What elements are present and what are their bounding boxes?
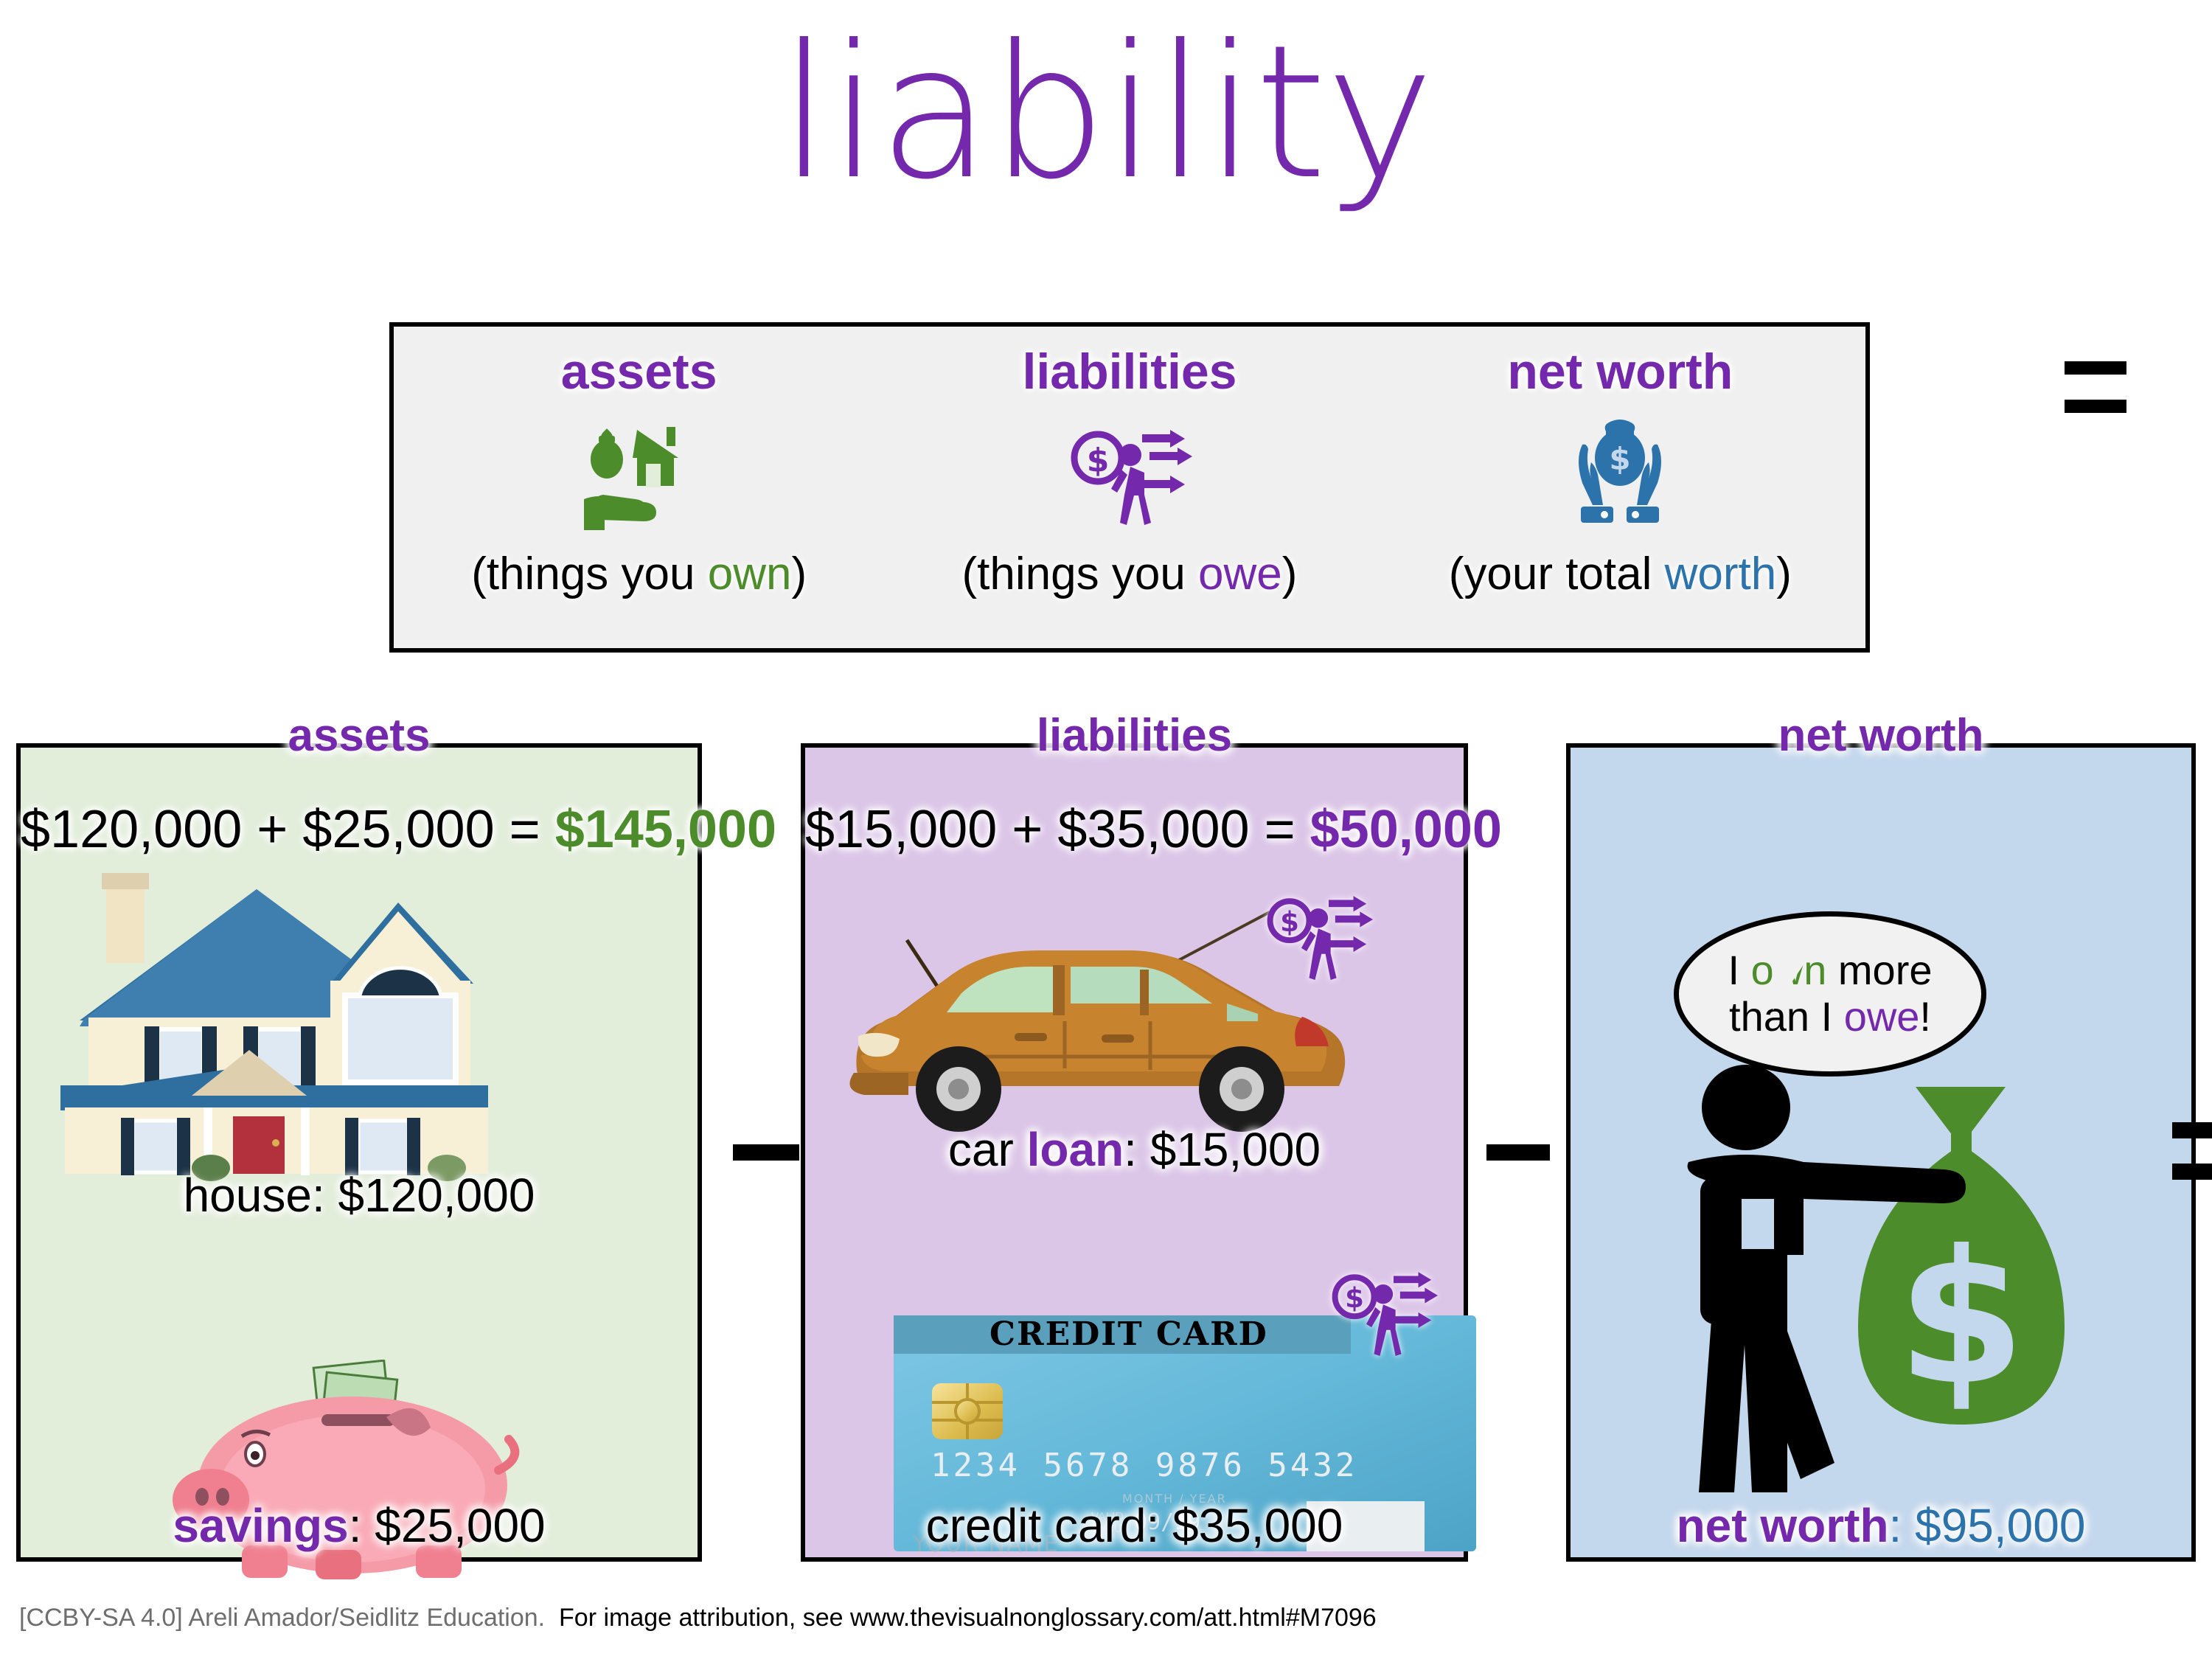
liabilities-item-key-loan: loan xyxy=(1027,1123,1124,1176)
person-money-outflow-icon: $ xyxy=(1312,1256,1453,1367)
page-title: liability xyxy=(0,21,2212,205)
assets-item-value-house: : $120,000 xyxy=(312,1169,535,1222)
definition-cell-net-worth: net worth $ xyxy=(1375,327,1865,648)
assets-equation: $120,000 + $25,000 = $145,000 xyxy=(21,799,698,860)
speech-line2-suffix: ! xyxy=(1919,993,1931,1040)
definition-sub-highlight: worth xyxy=(1665,549,1777,599)
liabilities-equation-total: $50,000 xyxy=(1310,800,1502,859)
speech-line1-suffix: more xyxy=(1826,947,1932,993)
definition-sub-suffix: ) xyxy=(1776,549,1792,599)
speech-bubble-line-1: I own more xyxy=(1728,947,1932,994)
footer-attribution-text: For image attribution, see www.thevisual… xyxy=(559,1604,1377,1632)
equals-sign-result xyxy=(2172,1122,2212,1181)
liabilities-item-value-credit-card: : $35,000 xyxy=(1146,1499,1343,1552)
minus-sign-liabilities-networth xyxy=(1486,1144,1550,1161)
speech-bubble: I own more than I owe! xyxy=(1674,911,1986,1077)
footer-license: [CCBY-SA 4.0] Areli Amador/Seidlitz Educ… xyxy=(19,1604,545,1632)
liabilities-item-key-credit-card: credit card xyxy=(926,1499,1147,1552)
liabilities-item-label-credit-card: credit card: $35,000 xyxy=(805,1498,1464,1553)
definition-sub-prefix: (things you xyxy=(962,549,1199,599)
person-with-money-bag-illustration: $ xyxy=(1659,1065,2160,1514)
person-money-outflow-icon: $ xyxy=(1060,405,1200,545)
speech-line2-owe: owe xyxy=(1844,993,1920,1040)
liabilities-item-label-car-loan: car loan: $15,000 xyxy=(805,1122,1464,1177)
liabilities-equation-operands: $15,000 + $35,000 = xyxy=(805,800,1310,859)
assets-panel-label: assets xyxy=(21,709,698,762)
liabilities-equation: $15,000 + $35,000 = $50,000 xyxy=(805,799,1464,860)
equals-sign-header xyxy=(2065,361,2126,416)
assets-item-key-house: house xyxy=(184,1169,312,1222)
liabilities-panel-label: liabilities xyxy=(805,709,1464,762)
definition-sub-highlight: own xyxy=(708,549,792,599)
hand-holding-house-money-icon xyxy=(569,405,709,545)
definition-sub-liabilities: (things you owe) xyxy=(962,548,1298,600)
definition-sub-highlight: owe xyxy=(1198,549,1282,599)
svg-text:$: $ xyxy=(1345,1282,1364,1314)
liabilities-item-value-car-loan: : $15,000 xyxy=(1124,1123,1321,1176)
net-worth-item-key: net worth xyxy=(1677,1499,1889,1552)
hands-holding-money-bag-icon: $ xyxy=(1550,405,1690,545)
definition-term-liabilities: liabilities xyxy=(1022,343,1237,400)
svg-text:1234 5678 9876 5432: 1234 5678 9876 5432 xyxy=(931,1447,1357,1484)
assets-equation-operands: $120,000 + $25,000 = xyxy=(21,800,555,859)
assets-equation-total: $145,000 xyxy=(555,800,776,859)
definition-sub-net-worth: (your total worth) xyxy=(1449,548,1792,600)
definition-sub-prefix: (things you xyxy=(471,549,708,599)
net-worth-panel-label: net worth xyxy=(1571,709,2191,762)
minus-sign-assets-liabilities xyxy=(733,1144,799,1161)
definition-cell-assets: assets (things xyxy=(394,327,884,648)
definition-sub-suffix: ) xyxy=(791,549,807,599)
assets-item-key-savings: savings xyxy=(173,1499,348,1552)
equals-bar-top xyxy=(2172,1122,2212,1138)
definition-cell-liabilities: liabilities $ xyxy=(884,327,1374,648)
net-worth-item-label: net worth: $95,000 xyxy=(1571,1498,2191,1553)
speech-line1-prefix: I xyxy=(1728,947,1750,993)
liabilities-panel: liabilities $15,000 + $35,000 = $50,000 xyxy=(801,743,1468,1562)
net-worth-item-value: : $95,000 xyxy=(1889,1499,2086,1552)
house-illustration xyxy=(35,873,515,1183)
equals-bar-bottom xyxy=(2172,1164,2212,1180)
svg-text:$: $ xyxy=(1897,1211,2025,1425)
definition-term-assets: assets xyxy=(561,343,717,400)
assets-item-label-savings: savings: $25,000 xyxy=(21,1498,698,1553)
svg-text:$: $ xyxy=(1280,906,1299,938)
infographic-canvas: liability assets xyxy=(0,0,2212,1659)
svg-text:$: $ xyxy=(1610,441,1631,477)
definition-term-net-worth: net worth xyxy=(1507,343,1733,400)
svg-text:$: $ xyxy=(1087,442,1110,479)
footer-attribution: [CCBY-SA 4.0] Areli Amador/Seidlitz Educ… xyxy=(19,1604,1377,1632)
assets-item-label-house: house: $120,000 xyxy=(21,1168,698,1222)
net-worth-panel: net worth I own more than I owe! $ xyxy=(1566,743,2196,1562)
definition-sub-suffix: ) xyxy=(1282,549,1298,599)
equals-bar-top xyxy=(2065,361,2126,375)
assets-item-value-savings: : $25,000 xyxy=(349,1499,546,1552)
definition-sub-assets: (things you own) xyxy=(471,548,807,600)
equals-bar-bottom xyxy=(2065,400,2126,413)
definition-header-box: assets (things xyxy=(389,322,1870,653)
person-money-outflow-icon: $ xyxy=(1248,880,1388,991)
definition-sub-prefix: (your total xyxy=(1449,549,1665,599)
assets-panel: assets $120,000 + $25,000 = $145,000 xyxy=(16,743,702,1562)
liabilities-item-prefix-car: car xyxy=(948,1123,1027,1176)
svg-text:CREDIT CARD: CREDIT CARD xyxy=(990,1315,1268,1353)
